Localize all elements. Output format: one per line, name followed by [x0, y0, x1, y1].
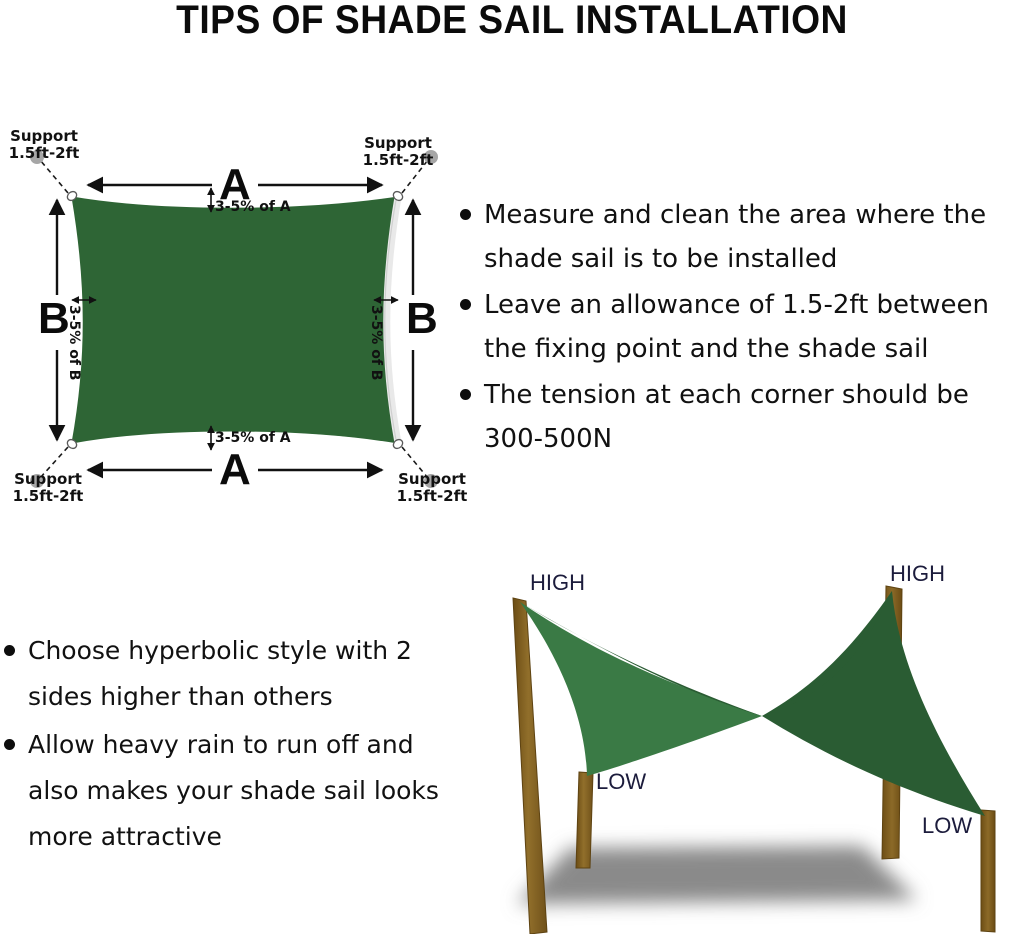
dimension-label-b-right: B — [406, 297, 438, 341]
tolerance-label-top: 3-5% of A — [215, 199, 291, 215]
bullet-dot-icon — [460, 299, 471, 310]
label-high-right: HIGH — [890, 561, 945, 586]
sail-shape — [72, 197, 398, 443]
label-low-left: LOW — [596, 769, 646, 794]
list-item-text: The tension at each corner should be 300… — [484, 373, 1024, 461]
support-label-top-left: Support 1.5ft-2ft — [6, 128, 82, 162]
list-item-text: Allow heavy rain to run off and also mak… — [28, 722, 444, 860]
bullet-dot-icon — [4, 645, 15, 656]
tolerance-label-bottom: 3-5% of A — [215, 430, 291, 446]
hyperbolic-tips-list: Choose hyperbolic style with 2 sides hig… — [4, 628, 444, 862]
installation-tips-list: Measure and clean the area where the sha… — [460, 193, 1024, 463]
support-label-line2: 1.5ft-2ft — [397, 487, 468, 505]
label-low-right: LOW — [922, 813, 972, 838]
hyperbolic-sail-diagram: HIGH HIGH LOW LOW — [462, 548, 1022, 934]
support-label-line2: 1.5ft-2ft — [9, 144, 80, 162]
dimension-label-b-left: B — [38, 297, 70, 341]
list-item: Measure and clean the area where the sha… — [460, 193, 1024, 281]
post-back-left — [513, 598, 547, 934]
support-label-bottom-right: Support 1.5ft-2ft — [394, 471, 470, 505]
support-label-line1: Support — [10, 127, 78, 145]
post-front-right — [981, 810, 995, 932]
list-item-text: Leave an allowance of 1.5-2ft between th… — [484, 283, 1024, 371]
support-label-bottom-left: Support 1.5ft-2ft — [10, 471, 86, 505]
support-label-line1: Support — [14, 470, 82, 488]
list-item: Allow heavy rain to run off and also mak… — [4, 722, 444, 860]
bullet-dot-icon — [460, 389, 471, 400]
support-label-line2: 1.5ft-2ft — [13, 487, 84, 505]
list-item: The tension at each corner should be 300… — [460, 373, 1024, 461]
support-label-line1: Support — [398, 470, 466, 488]
list-item-text: Choose hyperbolic style with 2 sides hig… — [28, 628, 444, 720]
support-label-top-right: Support 1.5ft-2ft — [360, 135, 436, 169]
bullet-dot-icon — [460, 209, 471, 220]
bullet-dot-icon — [4, 739, 15, 750]
support-line-top-left — [40, 160, 68, 193]
tips-poster: TIPS OF SHADE SAIL INSTALLATION — [0, 0, 1024, 934]
support-label-line2: 1.5ft-2ft — [363, 151, 434, 169]
tolerance-label-right: 3-5% of B — [368, 305, 384, 380]
list-item: Choose hyperbolic style with 2 sides hig… — [4, 628, 444, 720]
tolerance-label-left: 3-5% of B — [66, 305, 82, 380]
dimension-label-a-bottom: A — [219, 448, 251, 492]
list-item-text: Measure and clean the area where the sha… — [484, 193, 1024, 281]
page-title: TIPS OF SHADE SAIL INSTALLATION — [36, 0, 988, 46]
list-item: Leave an allowance of 1.5-2ft between th… — [460, 283, 1024, 371]
post-front-left — [576, 772, 593, 868]
label-high-left: HIGH — [530, 570, 585, 595]
support-label-line1: Support — [364, 134, 432, 152]
